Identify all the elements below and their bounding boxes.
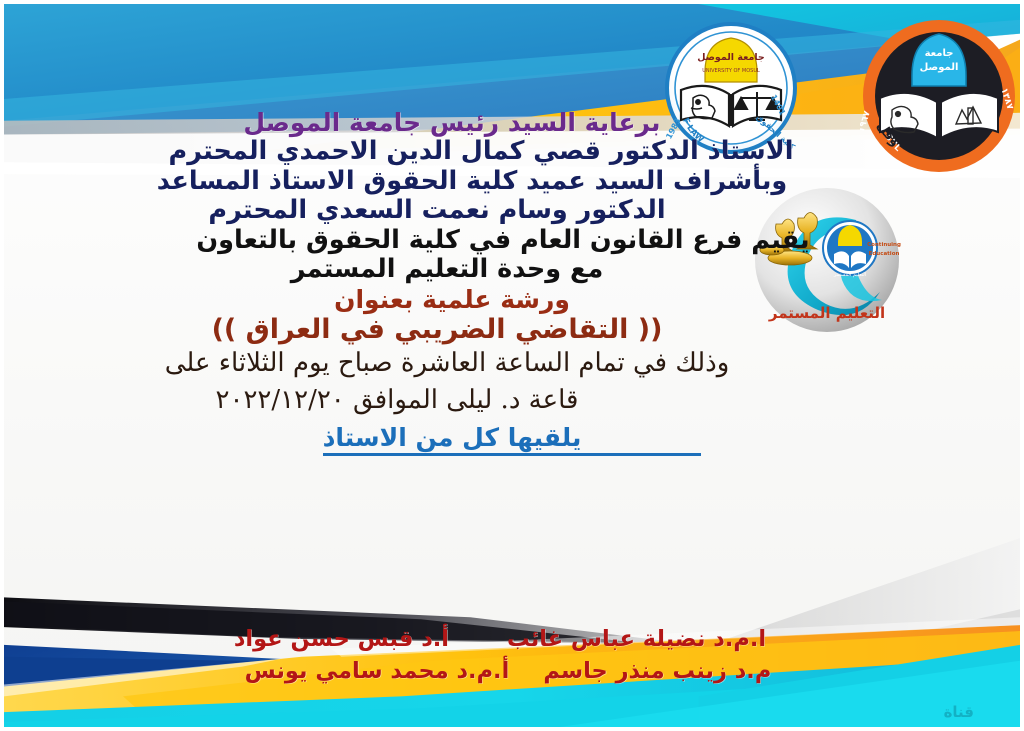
presenter-name: م.د زينب منذر جاسم <box>543 656 771 688</box>
president-name-line: الاستاذ الدكتور قصي كمال الدين الاحمدي ا… <box>4 137 1020 167</box>
organizer-line-2: مع وحدة التعليم المستمر <box>4 255 1020 285</box>
presenter-name: أ.د قبس حسن عواد <box>234 624 449 656</box>
svg-text:UNIVERSITY OF MOSUL: UNIVERSITY OF MOSUL <box>702 68 760 74</box>
presenters-block: ا.م.د نضيلة عباس غائب أ.د قبس حسن عواد م… <box>4 624 1020 688</box>
supervision-line: وبأشراف السيد عميد كلية الحقوق الاستاذ ا… <box>4 167 1020 197</box>
svg-text:جامعة الموصل: جامعة الموصل <box>697 52 765 63</box>
presenter-name: أ.م.د محمد سامي يونس <box>245 656 510 688</box>
event-kind-line: ورشة علمية بعنوان <box>4 285 1020 314</box>
poster-root: جامعة الموصل UNIVERSITY OF MOSUL <box>0 0 1024 731</box>
venue-date-line: قاعة د. ليلى الموافق ٢٠٢٢/١٢/٢٠ <box>4 382 1020 419</box>
presenter-name: ا.م.د نضيلة عباس غائب <box>507 624 766 656</box>
presenter-row: م.د زينب منذر جاسم أ.م.د محمد سامي يونس <box>4 656 1020 688</box>
dean-name-line: الدكتور وسام نعمت السعدي المحترم <box>4 196 1020 226</box>
presented-by-line: يلقيها كل من الاستاذ <box>323 423 702 456</box>
event-title-line: (( التقاضي الضريبي في العراق )) <box>4 314 1020 345</box>
poster-text-block: برعاية السيد رئيس جامعة الموصل الاستاذ ا… <box>4 108 1020 456</box>
patronage-line: برعاية السيد رئيس جامعة الموصل <box>4 108 1020 137</box>
time-line: وذلك في تمام الساعة العاشرة صباح يوم الث… <box>4 345 1020 382</box>
organizer-line-1: يقيم فرع القانون العام في كلية الحقوق با… <box>4 226 1020 256</box>
watermark-text: قناة <box>944 703 974 721</box>
svg-text:الموصل: الموصل <box>920 62 959 73</box>
svg-text:جامعة: جامعة <box>925 48 954 59</box>
presenter-row: ا.م.د نضيلة عباس غائب أ.د قبس حسن عواد <box>4 624 1020 656</box>
presented-by-wrapper: يلقيها كل من الاستاذ <box>4 423 1020 456</box>
